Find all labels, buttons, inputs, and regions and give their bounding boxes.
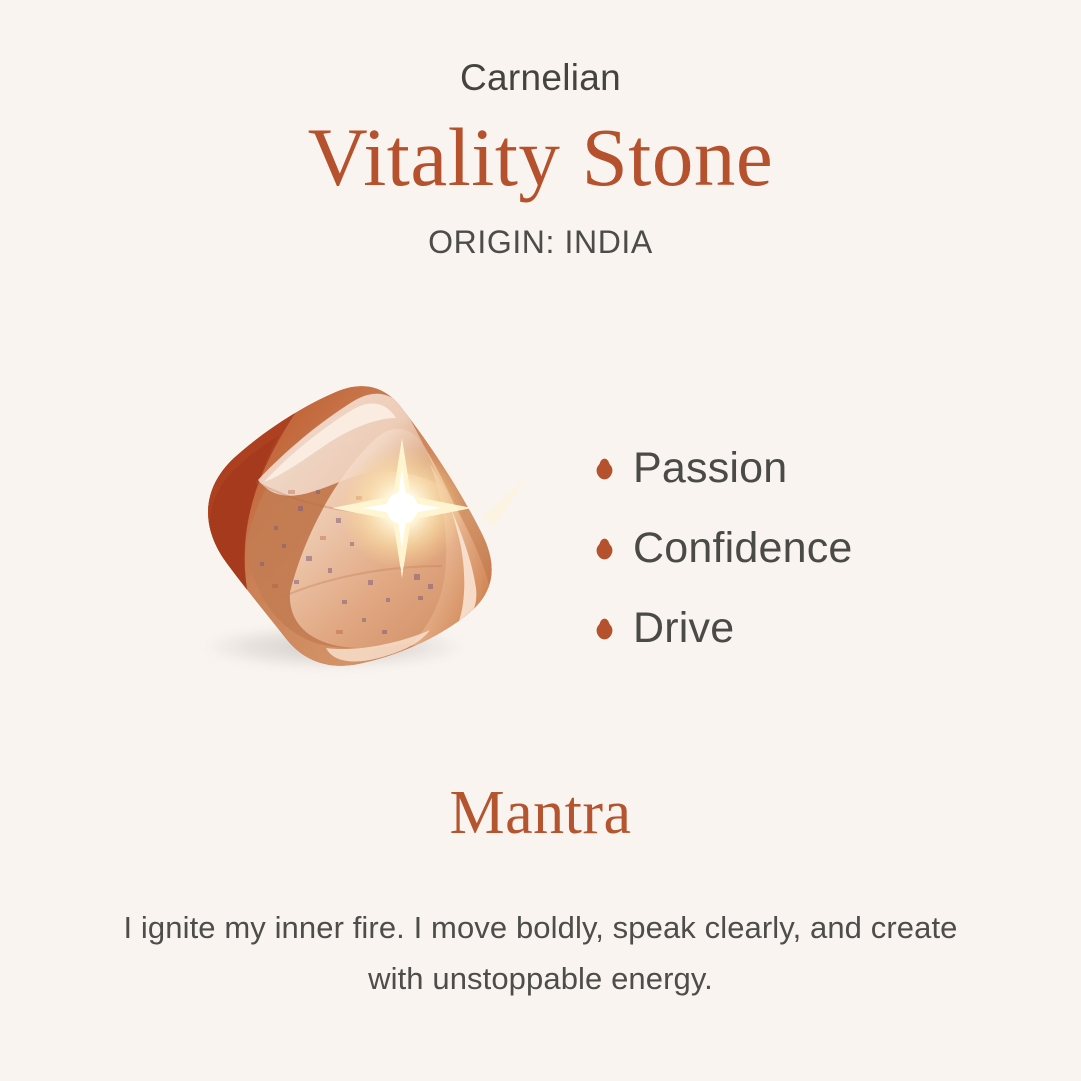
list-item: Confidence: [596, 508, 1016, 588]
trait-label: Passion: [633, 447, 787, 490]
list-item: Passion: [596, 428, 1016, 508]
trait-label: Drive: [633, 607, 734, 650]
mantra-text: I ignite my inner fire. I move boldly, s…: [106, 903, 976, 1003]
gem-bullet-icon: [596, 538, 613, 560]
traits-list: Passion Confidence Drive: [596, 428, 1016, 668]
stone-info-card: Carnelian Vitality Stone ORIGIN: INDIA: [0, 0, 1081, 1081]
trait-label: Confidence: [633, 527, 853, 570]
stone-and-traits-section: Passion Confidence Drive: [0, 330, 1081, 710]
card-header: Carnelian Vitality Stone ORIGIN: INDIA: [0, 58, 1081, 261]
origin-label: ORIGIN: INDIA: [0, 224, 1081, 261]
mantra-heading: Mantra: [0, 778, 1081, 849]
stone-illustration: [130, 330, 530, 710]
carnelian-stone-icon: [130, 330, 530, 710]
stone-name-eyebrow: Carnelian: [0, 58, 1081, 99]
list-item: Drive: [596, 588, 1016, 668]
mantra-section: Mantra I ignite my inner fire. I move bo…: [0, 778, 1081, 1004]
page-title: Vitality Stone: [0, 107, 1081, 208]
gem-bullet-icon: [596, 618, 613, 640]
gem-bullet-icon: [596, 458, 613, 480]
